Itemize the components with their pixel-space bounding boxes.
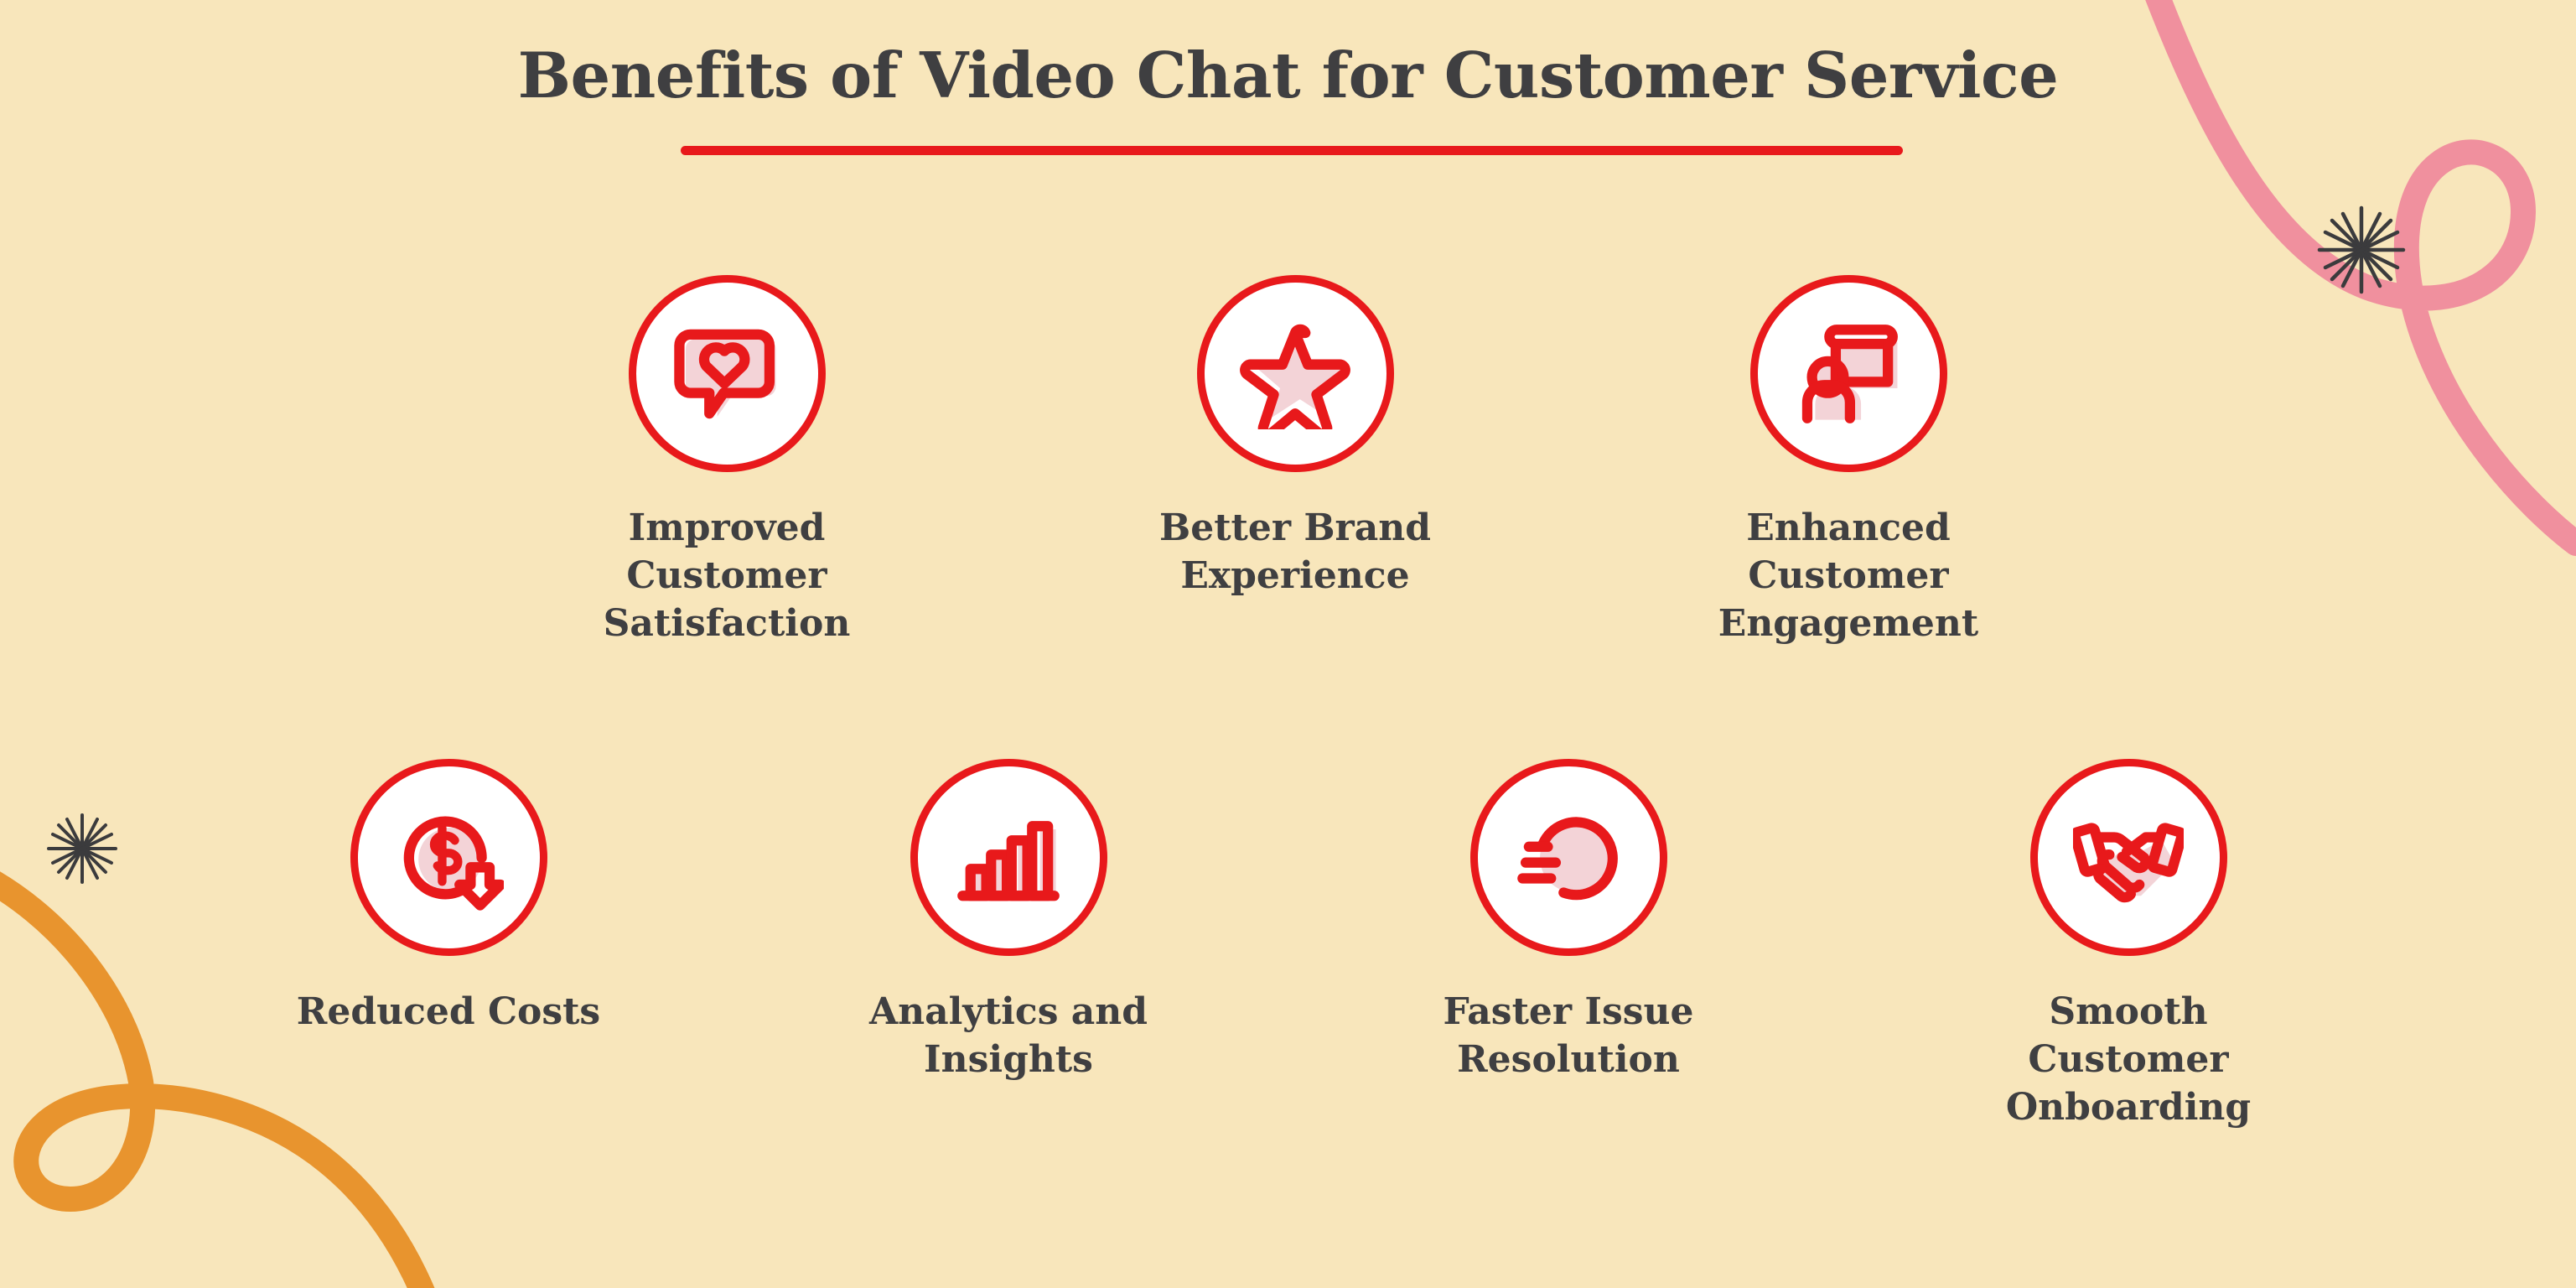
benefit-icon-badge <box>629 275 826 472</box>
benefit-icon-badge <box>1470 759 1667 956</box>
benefit-icon-badge <box>1750 275 1947 472</box>
page-title-block: Benefits of Video Chat for Customer Serv… <box>0 40 2576 111</box>
sparkle-left <box>49 815 116 882</box>
benefit-label-line-1: Improved Customer <box>547 504 907 600</box>
benefit-label-line-2: Satisfaction <box>547 600 907 647</box>
fast-clock-icon <box>1513 802 1624 913</box>
benefit-label-line-1: Analytics and Insights <box>828 988 1189 1083</box>
benefit-label-line-1: Enhanced Customer <box>1668 504 2029 600</box>
benefit-label: Analytics and Insights <box>828 988 1189 1083</box>
benefit-item-smooth-customer-onboarding[interactable]: Smooth Customer Onboarding <box>1948 759 2309 1132</box>
benefit-icon-badge <box>350 759 547 956</box>
infographic-canvas: Benefits of Video Chat for Customer Serv… <box>0 0 2576 1288</box>
benefit-item-faster-issue-resolution[interactable]: Faster Issue Resolution <box>1388 759 1749 1083</box>
benefit-label-line-2: Onboarding <box>1948 1083 2309 1131</box>
benefit-label: Enhanced Customer Engagement <box>1668 504 2029 648</box>
handshake-icon <box>2073 802 2184 913</box>
dollar-coin-down-arrow-icon <box>393 802 504 913</box>
benefit-item-reduced-costs[interactable]: Reduced Costs <box>268 759 629 1036</box>
benefit-icon-badge <box>1197 275 1394 472</box>
title-underline-rule <box>681 146 1903 155</box>
benefit-label-line-1: Smooth Customer <box>1948 988 2309 1083</box>
presentation-person-chart-icon <box>1793 319 1904 429</box>
benefit-label-line-2: Engagement <box>1668 600 2029 647</box>
page-title: Benefits of Video Chat for Customer Serv… <box>0 40 2576 111</box>
benefit-item-better-brand-experience[interactable]: Better Brand Experience <box>1115 275 1475 600</box>
benefit-item-analytics-and-insights[interactable]: Analytics and Insights <box>828 759 1189 1083</box>
bar-chart-up-arrow-icon <box>953 802 1064 913</box>
benefit-label-line-1: Reduced Costs <box>268 988 629 1036</box>
benefit-label-line-1: Better Brand <box>1115 504 1475 552</box>
benefit-label: Better Brand Experience <box>1115 504 1475 600</box>
benefit-label: Faster Issue Resolution <box>1388 988 1749 1083</box>
benefit-item-enhanced-customer-engagement[interactable]: Enhanced Customer Engagement <box>1668 275 2029 648</box>
benefit-item-improved-customer-satisfaction[interactable]: Improved Customer Satisfaction <box>547 275 907 648</box>
benefit-label: Reduced Costs <box>268 988 629 1036</box>
benefit-label-line-2: Resolution <box>1388 1036 1749 1083</box>
sparkle-top-right <box>2319 208 2403 292</box>
star-icon <box>1240 319 1350 429</box>
benefit-label-line-2: Experience <box>1115 552 1475 600</box>
chat-bubble-heart-icon <box>671 319 782 429</box>
benefit-label-line-1: Faster Issue <box>1388 988 1749 1036</box>
benefit-label: Improved Customer Satisfaction <box>547 504 907 648</box>
benefit-icon-badge <box>910 759 1107 956</box>
benefit-icon-badge <box>2030 759 2227 956</box>
benefit-label: Smooth Customer Onboarding <box>1948 988 2309 1132</box>
